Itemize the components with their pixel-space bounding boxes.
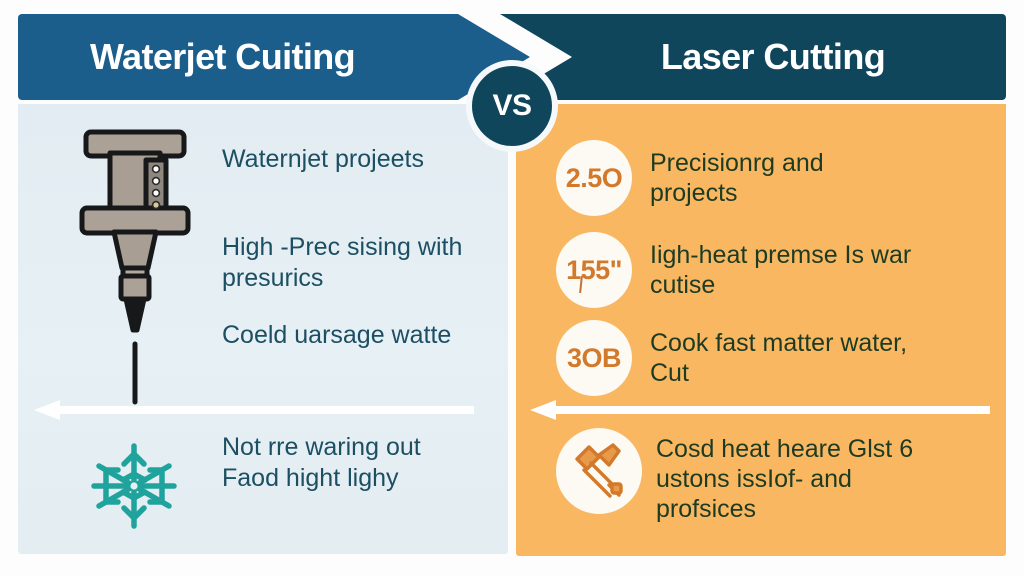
right-panel-title: Laser Cutting bbox=[661, 36, 885, 78]
laser-feature-3: Cook fast matter water, Cut bbox=[650, 320, 912, 388]
waterjet-note: Not rre waring out Faod hight lighy bbox=[222, 432, 480, 494]
snowflake-icon bbox=[88, 440, 180, 532]
stat-badge-1-value: 2.5O bbox=[566, 163, 623, 194]
stat-badge-3-value: 3OB bbox=[567, 343, 621, 374]
stat-badge-3: 3OB bbox=[556, 320, 632, 396]
laser-feature-2: Iigh-heat premse Is war cutise bbox=[650, 232, 912, 300]
stat-badge-2: 155" bbox=[556, 232, 632, 308]
torch-tool-icon bbox=[556, 428, 642, 514]
laser-feature-row-1: 2.5O Precisionrg and projects bbox=[556, 140, 912, 216]
header-banner-right: Laser Cutting bbox=[500, 14, 1006, 100]
left-panel-title: Waterjet Cuiting bbox=[90, 36, 355, 78]
stat-badge-2-value: 155" bbox=[566, 255, 622, 286]
header-banner-left: Waterjet Cuiting bbox=[18, 14, 530, 100]
waterjet-feature-2: High -Prec sising with presurics bbox=[222, 232, 472, 294]
waterjet-feature-3: Coeld uarsage watte bbox=[222, 320, 472, 351]
vs-label: VS bbox=[492, 89, 531, 123]
waterjet-feature-1: Waternjet projeets bbox=[222, 144, 472, 175]
stat-badge-1: 2.5O bbox=[556, 140, 632, 216]
vs-badge: VS bbox=[466, 60, 558, 152]
right-arrow-divider-icon bbox=[530, 398, 990, 422]
laser-note: Cosd heat heare Glst 6 ustons issIof- an… bbox=[656, 428, 956, 524]
laser-note-row: Cosd heat heare Glst 6 ustons issIof- an… bbox=[556, 428, 956, 524]
laser-feature-row-3: 3OB Cook fast matter water, Cut bbox=[556, 320, 912, 396]
laser-feature-row-2: 155" Iigh-heat premse Is war cutise bbox=[556, 232, 912, 308]
waterjet-nozzle-icon bbox=[55, 120, 215, 405]
laser-feature-1: Precisionrg and projects bbox=[650, 140, 912, 208]
infographic-canvas: Waterjet Cuiting Laser Cutting VS bbox=[0, 0, 1024, 576]
